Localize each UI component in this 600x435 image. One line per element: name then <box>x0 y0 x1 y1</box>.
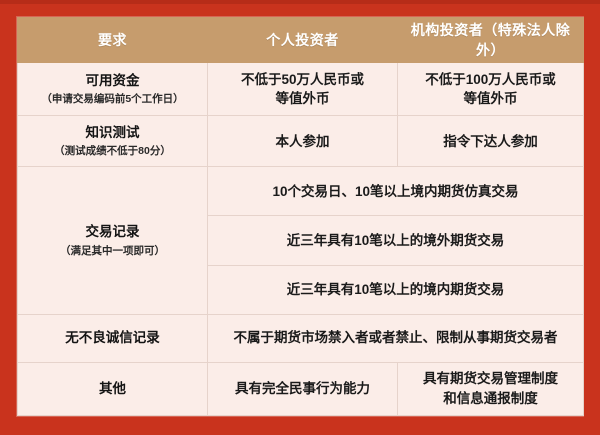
table-header: 要求 个人投资者 机构投资者（特殊法人除外） <box>18 18 584 63</box>
cell-text-line: 具有期货交易管理制度 <box>404 369 577 389</box>
requirements-panel: 要求 个人投资者 机构投资者（特殊法人除外） 可用资金 （申请交易编码前5个工作… <box>17 17 583 416</box>
cell-text-line: 具有完全民事行为能力 <box>214 379 391 399</box>
cell-text-line: 指令下达人参加 <box>404 132 577 152</box>
table-row: 其他 具有完全民事行为能力 具有期货交易管理制度 和信息通报制度 <box>18 362 584 415</box>
cell-text-line: 本人参加 <box>214 132 391 152</box>
cell-institution-other: 具有期货交易管理制度 和信息通报制度 <box>398 362 584 415</box>
cell-requirement-credit-record: 无不良诚信记录 <box>18 314 208 362</box>
cell-text-line: 等值外币 <box>214 89 391 109</box>
cell-credit-record-detail: 不属于期货市场禁入者或者禁止、限制从事期货交易者 <box>208 314 584 362</box>
cell-requirement-available-funds: 可用资金 （申请交易编码前5个工作日） <box>18 63 208 116</box>
cell-text-line: 近三年具有10笔以上的境内期货交易 <box>214 280 577 300</box>
cell-individual-other: 具有完全民事行为能力 <box>208 362 398 415</box>
cell-trading-record-option-2: 近三年具有10笔以上的境外期货交易 <box>208 216 584 265</box>
cell-trading-record-option-1: 10个交易日、10笔以上境内期货仿真交易 <box>208 167 584 216</box>
cell-requirement-other: 其他 <box>18 362 208 415</box>
cell-individual-knowledge-test: 本人参加 <box>208 116 398 167</box>
requirement-title: 交易记录 <box>24 222 201 242</box>
requirement-subtitle: （满足其中一项即可） <box>24 244 201 259</box>
cell-text-line: 近三年具有10笔以上的境外期货交易 <box>214 231 577 251</box>
cell-text-line: 不低于100万人民币或 <box>404 70 577 90</box>
requirement-subtitle: （申请交易编码前5个工作日） <box>24 92 201 107</box>
table-row: 可用资金 （申请交易编码前5个工作日） 不低于50万人民币或 等值外币 不低于1… <box>18 63 584 116</box>
cell-text-line: 和信息通报制度 <box>404 389 577 409</box>
requirement-title: 其他 <box>24 379 201 399</box>
cell-text-line: 10个交易日、10笔以上境内期货仿真交易 <box>214 182 577 202</box>
table-row: 知识测试 （测试成绩不低于80分） 本人参加 指令下达人参加 <box>18 116 584 167</box>
table-body: 可用资金 （申请交易编码前5个工作日） 不低于50万人民币或 等值外币 不低于1… <box>18 63 584 416</box>
requirement-subtitle: （测试成绩不低于80分） <box>24 144 201 159</box>
column-header-requirement: 要求 <box>18 18 208 63</box>
cell-institution-available-funds: 不低于100万人民币或 等值外币 <box>398 63 584 116</box>
cell-text-line: 等值外币 <box>404 89 577 109</box>
cell-individual-available-funds: 不低于50万人民币或 等值外币 <box>208 63 398 116</box>
page-root: 要求 个人投资者 机构投资者（特殊法人除外） 可用资金 （申请交易编码前5个工作… <box>0 0 600 435</box>
column-header-institutional-investor: 机构投资者（特殊法人除外） <box>398 18 584 63</box>
cell-requirement-trading-record: 交易记录 （满足其中一项即可） <box>18 167 208 314</box>
table-row: 无不良诚信记录 不属于期货市场禁入者或者禁止、限制从事期货交易者 <box>18 314 584 362</box>
table-header-row: 要求 个人投资者 机构投资者（特殊法人除外） <box>18 18 584 63</box>
requirement-title: 无不良诚信记录 <box>24 328 201 348</box>
cell-trading-record-option-3: 近三年具有10笔以上的境内期货交易 <box>208 265 584 314</box>
cell-text-line: 不低于50万人民币或 <box>214 70 391 90</box>
requirement-title: 知识测试 <box>24 123 201 143</box>
requirement-title: 可用资金 <box>24 71 201 91</box>
cell-institution-knowledge-test: 指令下达人参加 <box>398 116 584 167</box>
cell-text-line: 不属于期货市场禁入者或者禁止、限制从事期货交易者 <box>214 328 577 348</box>
cell-requirement-knowledge-test: 知识测试 （测试成绩不低于80分） <box>18 116 208 167</box>
column-header-individual-investor: 个人投资者 <box>208 18 398 63</box>
table-row: 交易记录 （满足其中一项即可） 10个交易日、10笔以上境内期货仿真交易 <box>18 167 584 216</box>
requirements-table: 要求 个人投资者 机构投资者（特殊法人除外） 可用资金 （申请交易编码前5个工作… <box>17 17 584 416</box>
top-accent-strip <box>0 0 600 4</box>
